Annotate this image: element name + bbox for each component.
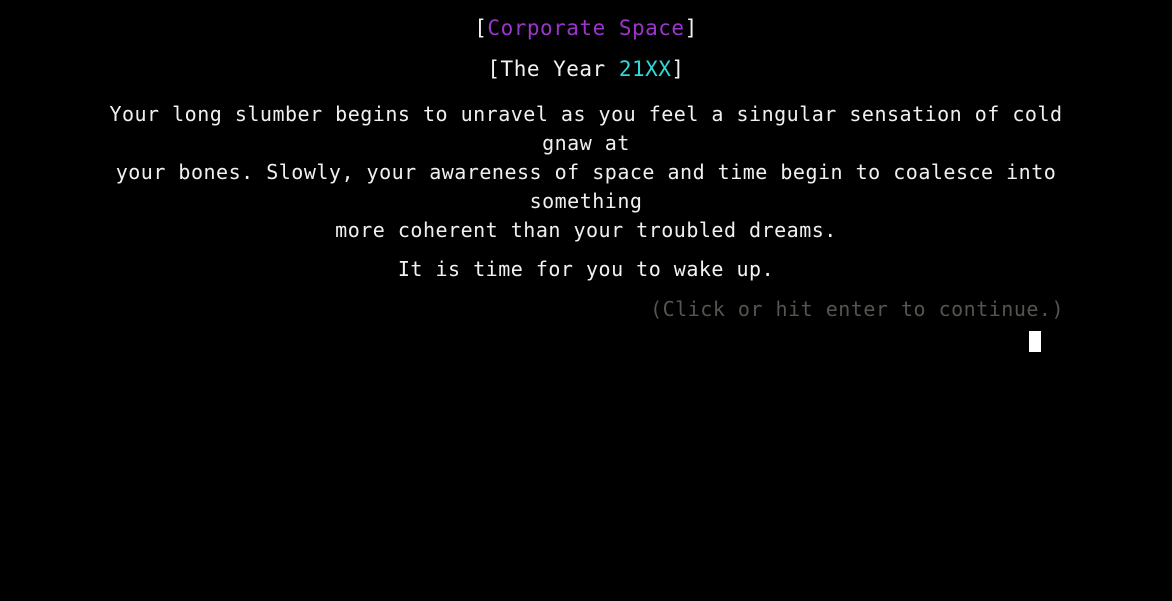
cursor-row xyxy=(96,331,1076,352)
year-prefix: [The Year xyxy=(487,57,618,81)
text-cursor-block xyxy=(1029,331,1041,352)
narration-line-3: more coherent than your troubled dreams. xyxy=(96,216,1076,245)
story-text-block: [Corporate Space] [The Year 21XX] Your l… xyxy=(96,8,1076,284)
heading-spacer xyxy=(96,90,1076,100)
narration-line-1: Your long slumber begins to unravel as y… xyxy=(96,100,1076,158)
year-suffix: ] xyxy=(671,57,684,81)
game-title-line: [Corporate Space] xyxy=(96,8,1076,49)
title-close-bracket: ] xyxy=(685,16,698,40)
title-open-bracket: [ xyxy=(474,16,487,40)
game-screen[interactable]: [Corporate Space] [The Year 21XX] Your l… xyxy=(0,0,1172,601)
continue-hint-row[interactable]: (Click or hit enter to continue.) xyxy=(96,295,1076,324)
narration-line-2: your bones. Slowly, your awareness of sp… xyxy=(96,158,1076,216)
continue-hint[interactable]: (Click or hit enter to continue.) xyxy=(650,297,1064,321)
narration-prompt: It is time for you to wake up. xyxy=(96,255,1076,284)
year-value: 21XX xyxy=(619,57,672,81)
game-year-line: [The Year 21XX] xyxy=(96,49,1076,90)
game-title: Corporate Space xyxy=(487,16,684,40)
